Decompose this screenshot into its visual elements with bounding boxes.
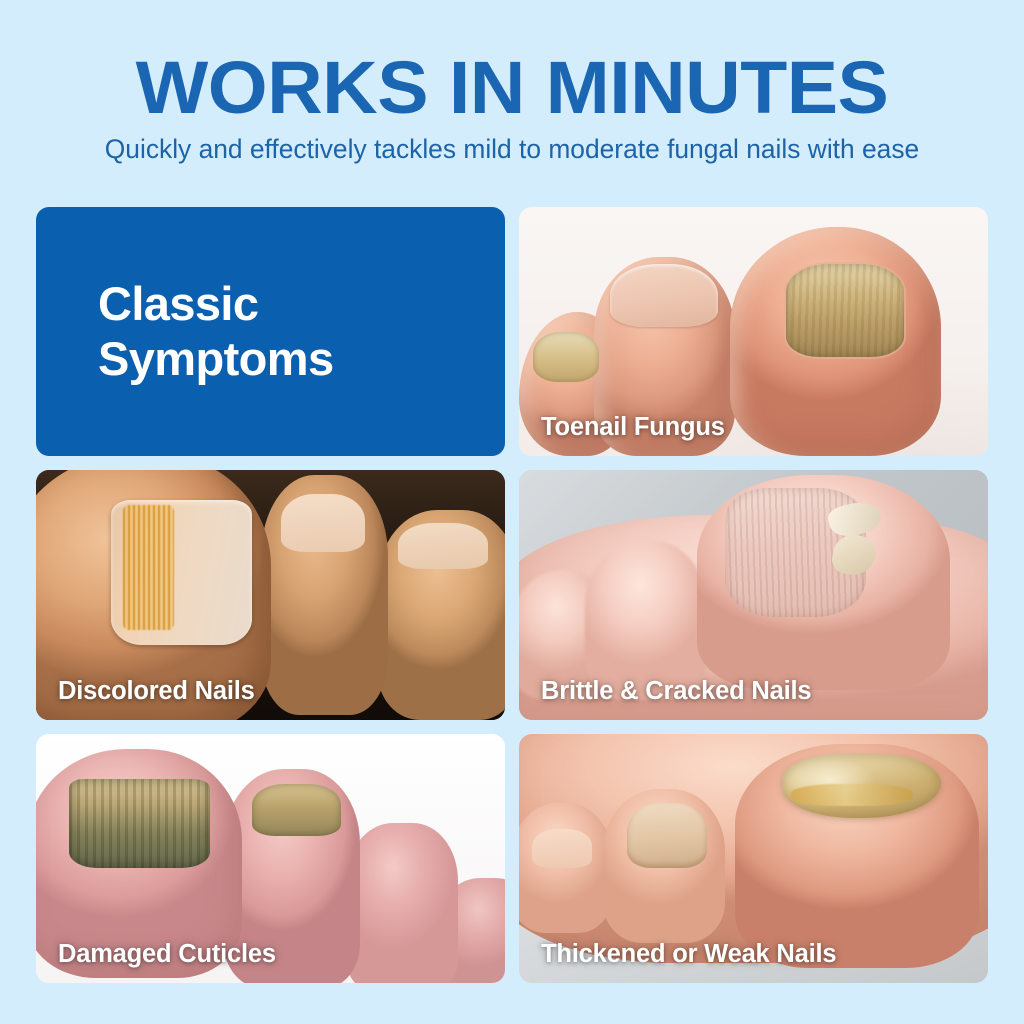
infographic-page: WORKS IN MINUTES Quickly and effectively… [0,0,1024,1024]
nail-shape [281,494,365,551]
toe-shape [261,475,388,714]
symptom-card-brittle-cracked-nails: Brittle & Cracked Nails [519,470,988,719]
symptom-caption: Brittle & Cracked Nails [541,677,811,706]
nail-shape [398,523,488,569]
fungal-nail-shape [786,264,903,356]
toe-shape [519,803,613,933]
symptom-card-thickened-weak-nails: Thickened or Weak Nails [519,734,988,983]
fungal-nail-shape [533,332,599,382]
damaged-nail-shape [252,784,341,836]
weak-nail-shape [627,803,707,868]
symptom-card-damaged-cuticles: Damaged Cuticles [36,734,505,983]
yellow-streak-shape [123,505,175,630]
symptom-card-discolored-nails: Discolored Nails [36,470,505,719]
symptom-card-toenail-fungus: Toenail Fungus [519,207,988,456]
nail-shape [532,829,592,868]
healthy-nail-shape [610,264,718,326]
page-subheadline: Quickly and effectively tackles mild to … [3,134,1022,166]
symptom-caption: Damaged Cuticles [58,940,276,969]
classic-symptoms-title: Classic Symptoms [36,277,333,386]
title-line-1: Classic [98,277,258,330]
damaged-nail-shape [69,779,210,869]
classic-symptoms-card: Classic Symptoms [36,207,505,456]
nail-debris-shape [791,784,913,806]
symptom-caption: Toenail Fungus [541,413,725,442]
symptom-caption: Discolored Nails [58,677,255,706]
toe-shape [378,510,505,719]
header: WORKS IN MINUTES Quickly and effectively… [0,0,1024,166]
toe-shape [346,823,459,983]
symptoms-grid: Classic Symptoms Toenail Fungus [36,207,988,983]
symptom-caption: Thickened or Weak Nails [541,940,836,969]
page-headline: WORKS IN MINUTES [0,52,1024,123]
title-line-2: Symptoms [98,332,333,387]
